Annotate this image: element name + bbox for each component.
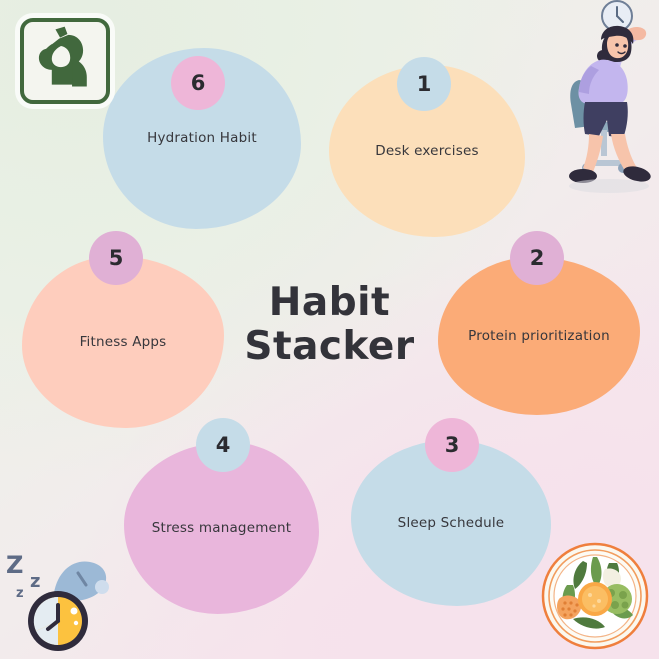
habit-number-2: 2 — [530, 246, 545, 270]
svg-text:Z: Z — [6, 551, 23, 579]
habit-badge-4[interactable]: 4 — [196, 418, 250, 472]
svg-text:z: z — [16, 586, 24, 601]
habit-label-1: Desk exercises — [361, 143, 492, 160]
habit-number-4: 4 — [216, 433, 231, 457]
habit-badge-5[interactable]: 5 — [89, 231, 143, 285]
habit-label-5: Fitness Apps — [66, 334, 181, 351]
person-drinking-water-icon — [20, 18, 110, 104]
habit-badge-2[interactable]: 2 — [510, 231, 564, 285]
person-stretching-at-chair-illustration — [557, 0, 657, 196]
habit-number-1: 1 — [417, 72, 432, 96]
habit-badge-1[interactable]: 1 — [397, 57, 451, 111]
habit-number-5: 5 — [109, 246, 124, 270]
zzz-text: Z z z — [6, 551, 40, 601]
habit-badge-6[interactable]: 6 — [171, 56, 225, 110]
habit-number-3: 3 — [445, 433, 460, 457]
habit-label-4: Stress management — [138, 520, 306, 537]
infographic-poster: Hydration Habit 6 Desk exercises 1 Prote… — [0, 0, 659, 659]
habit-label-6: Hydration Habit — [133, 130, 271, 147]
sleeping-clock-with-nightcap-icon: Z z z — [2, 547, 120, 657]
habit-number-6: 6 — [191, 71, 206, 95]
habit-label-2: Protein prioritization — [454, 328, 624, 345]
habit-label-3: Sleep Schedule — [384, 515, 519, 532]
healthy-salad-plate-icon — [539, 541, 651, 651]
habit-badge-3[interactable]: 3 — [425, 418, 479, 472]
svg-text:z: z — [30, 571, 40, 592]
